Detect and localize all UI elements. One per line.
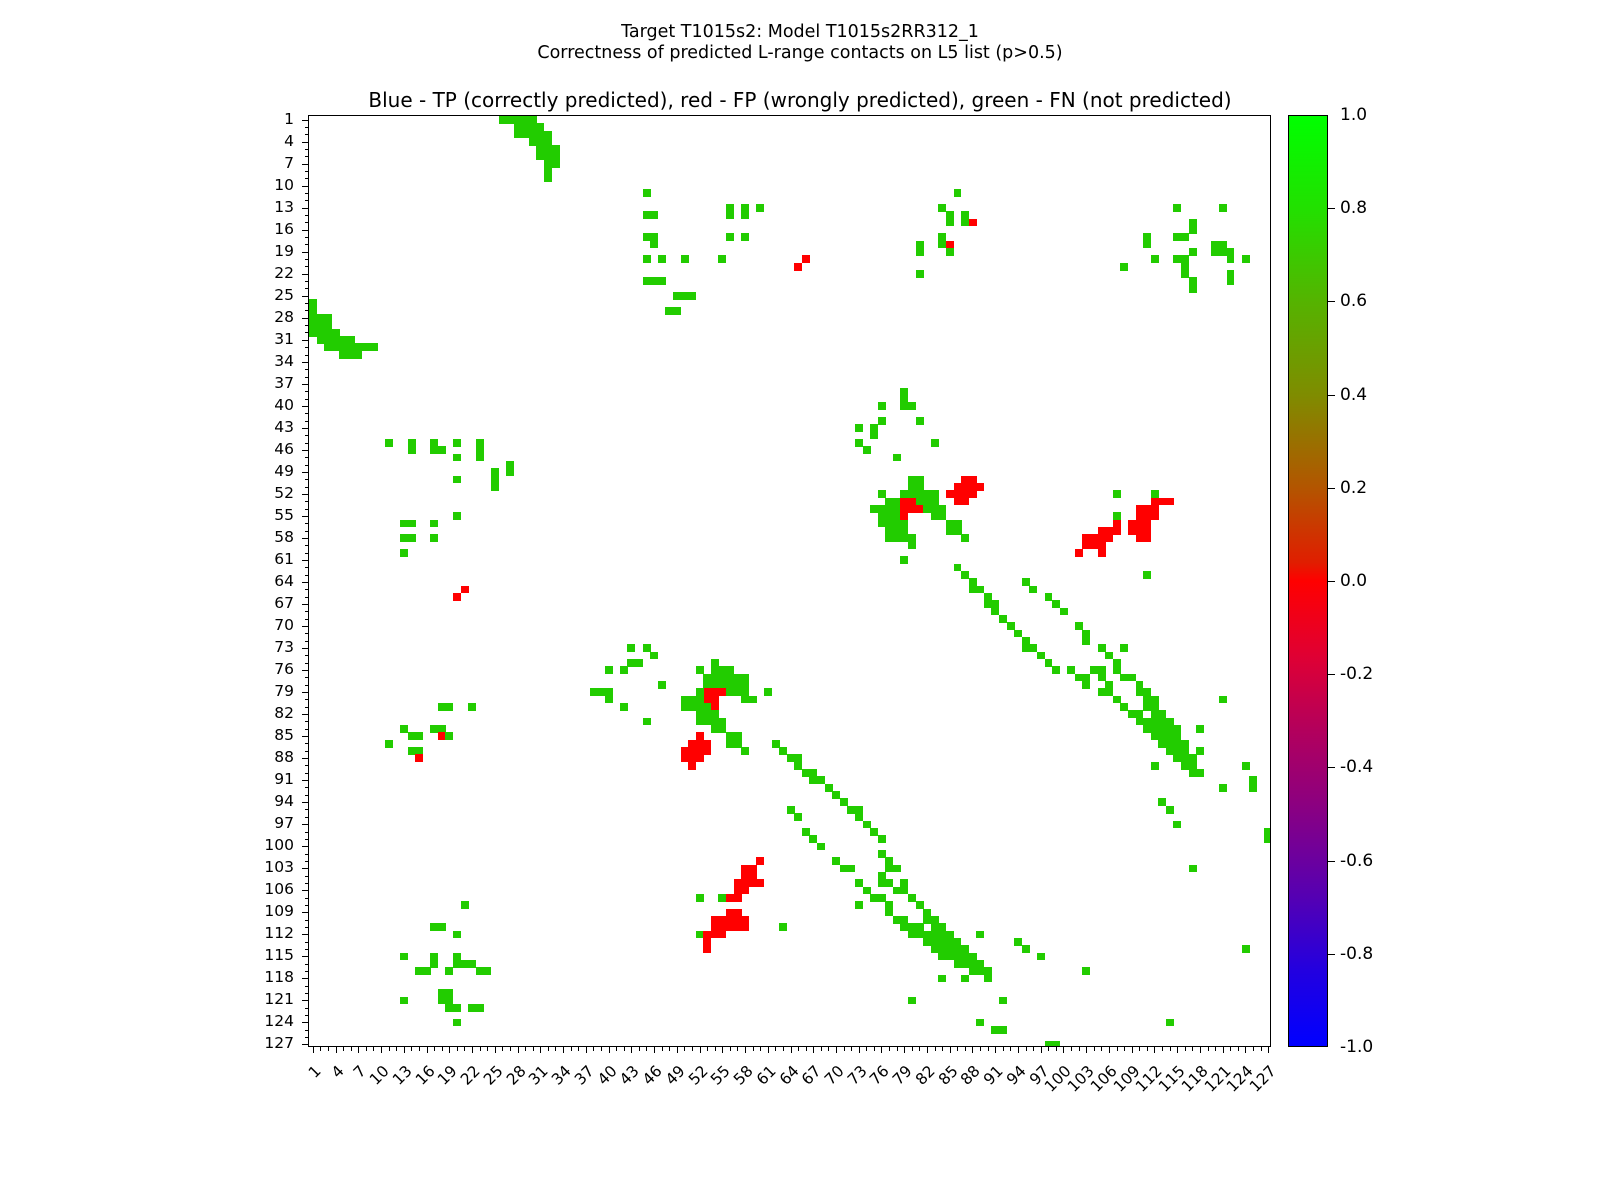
contact-cell xyxy=(1166,806,1174,814)
contact-cell xyxy=(1219,696,1227,704)
x-tick xyxy=(495,1046,496,1053)
y-tick xyxy=(302,582,309,583)
colorbar-tick-label: 0.2 xyxy=(1340,478,1367,498)
y-tick xyxy=(305,391,310,392)
contact-cell xyxy=(855,901,863,909)
contact-cell xyxy=(688,754,696,769)
contact-cell xyxy=(1151,762,1159,770)
x-tick xyxy=(1079,1046,1080,1051)
y-tick-label: 10 xyxy=(274,176,294,194)
y-tick xyxy=(305,751,310,752)
y-tick xyxy=(302,802,309,803)
y-tick xyxy=(305,545,310,546)
y-tick xyxy=(302,648,309,649)
contact-cell xyxy=(476,967,492,975)
contact-cell xyxy=(908,402,916,410)
y-tick xyxy=(305,399,310,400)
contact-cell xyxy=(1173,821,1181,829)
x-tick xyxy=(518,1046,519,1053)
contact-cell xyxy=(430,953,438,961)
x-tick xyxy=(1261,1046,1262,1051)
contact-cell xyxy=(643,277,666,285)
contact-cell xyxy=(1196,769,1204,777)
x-tick xyxy=(737,1046,738,1051)
y-tick xyxy=(305,303,310,304)
x-tick xyxy=(798,1046,799,1051)
y-tick-label: 16 xyxy=(274,220,294,238)
x-tick xyxy=(464,1046,465,1051)
x-tick xyxy=(844,1046,845,1051)
y-tick xyxy=(302,1000,309,1001)
y-tick-label: 76 xyxy=(274,660,294,678)
contact-cell xyxy=(1189,277,1197,292)
contact-cell xyxy=(984,975,992,983)
y-tick-label: 124 xyxy=(264,1012,294,1030)
colorbar-tick-label: 0.4 xyxy=(1340,385,1367,405)
contact-cell xyxy=(499,116,515,124)
contact-cell xyxy=(999,997,1007,1005)
y-tick xyxy=(305,611,310,612)
y-tick-label: 79 xyxy=(274,682,294,700)
colorbar-tick-label: -0.6 xyxy=(1340,851,1373,871)
contact-cell xyxy=(430,534,438,542)
contact-cell xyxy=(726,204,734,219)
y-tick xyxy=(305,832,310,833)
y-tick xyxy=(302,846,309,847)
contact-cell xyxy=(400,953,408,961)
contact-cell xyxy=(1189,865,1197,873)
contact-cell xyxy=(1060,608,1068,616)
y-tick-label: 118 xyxy=(264,968,294,986)
contact-cell xyxy=(453,593,461,601)
contact-cell xyxy=(605,666,613,674)
x-tick xyxy=(677,1046,678,1053)
contact-cell xyxy=(779,923,787,931)
y-tick-label: 121 xyxy=(264,990,294,1008)
x-tick xyxy=(533,1046,534,1051)
x-tick xyxy=(1170,1046,1171,1051)
x-tick xyxy=(1094,1046,1095,1051)
contact-cell xyxy=(976,1019,984,1027)
contact-cell xyxy=(1173,204,1181,212)
contact-cell xyxy=(1098,688,1114,696)
x-tick xyxy=(502,1046,503,1051)
y-tick xyxy=(305,237,310,238)
contact-cell xyxy=(385,439,393,447)
contact-cell xyxy=(931,505,947,520)
y-tick xyxy=(305,487,310,488)
y-tick xyxy=(302,516,309,517)
contact-cell xyxy=(749,696,757,704)
contact-cell xyxy=(900,556,908,564)
contact-cell xyxy=(1264,828,1270,843)
x-tick xyxy=(995,1046,996,1053)
x-tick xyxy=(373,1046,374,1051)
x-tick xyxy=(1109,1046,1110,1053)
x-tick xyxy=(434,1046,435,1051)
y-tick xyxy=(305,743,310,744)
contact-cell xyxy=(400,534,416,542)
y-tick xyxy=(302,978,309,979)
contact-cell xyxy=(1113,659,1121,674)
y-tick xyxy=(305,699,310,700)
y-tick-label: 61 xyxy=(274,550,294,568)
y-tick xyxy=(302,406,309,407)
y-tick xyxy=(302,340,309,341)
y-tick xyxy=(302,692,309,693)
x-tick xyxy=(1033,1046,1034,1051)
x-tick xyxy=(753,1046,754,1051)
x-tick xyxy=(1245,1046,1246,1053)
x-tick xyxy=(912,1046,913,1051)
contact-cell xyxy=(1143,233,1151,248)
x-tick xyxy=(768,1046,769,1053)
y-tick xyxy=(305,787,310,788)
y-tick xyxy=(305,553,310,554)
contact-cell xyxy=(878,417,886,425)
x-tick xyxy=(1223,1046,1224,1053)
x-tick xyxy=(427,1046,428,1053)
contact-cell xyxy=(385,740,393,748)
x-tick xyxy=(578,1046,579,1051)
x-tick xyxy=(1139,1046,1140,1051)
contact-cell xyxy=(1098,527,1114,542)
contact-cell xyxy=(802,255,810,263)
x-tick xyxy=(760,1046,761,1051)
contact-cell xyxy=(681,255,689,263)
contact-cell xyxy=(878,402,886,410)
contact-cell xyxy=(1120,263,1128,271)
y-tick xyxy=(305,465,310,466)
x-tick xyxy=(700,1046,701,1053)
contact-cell xyxy=(734,916,750,931)
x-tick xyxy=(881,1046,882,1053)
y-tick xyxy=(305,178,310,179)
x-tick xyxy=(1200,1046,1201,1053)
contact-cell xyxy=(1211,241,1227,256)
contact-cell xyxy=(741,204,749,219)
y-tick xyxy=(305,171,310,172)
x-tick xyxy=(320,1046,321,1051)
contact-cell xyxy=(1136,527,1152,542)
x-tick xyxy=(1063,1046,1064,1053)
y-tick xyxy=(302,318,309,319)
x-tick xyxy=(1147,1046,1148,1051)
contact-cell xyxy=(809,776,825,784)
contact-cell xyxy=(453,439,461,447)
colorbar-tick xyxy=(1328,674,1335,675)
y-tick-label: 49 xyxy=(274,462,294,480)
contact-cell xyxy=(1022,945,1030,953)
contact-cell xyxy=(1045,1041,1061,1046)
contact-cell xyxy=(931,439,939,447)
y-tick xyxy=(305,920,310,921)
contact-cell xyxy=(893,887,901,895)
contact-cell xyxy=(552,145,560,167)
contact-cell xyxy=(400,997,408,1005)
contact-cell xyxy=(726,732,742,747)
y-tick-label: 19 xyxy=(274,242,294,260)
x-tick xyxy=(972,1046,973,1053)
x-tick xyxy=(548,1046,549,1051)
contact-cell xyxy=(1082,681,1090,689)
x-tick xyxy=(510,1046,511,1051)
x-tick xyxy=(411,1046,412,1051)
contact-cell xyxy=(1120,674,1136,682)
y-tick xyxy=(302,384,309,385)
x-tick xyxy=(404,1046,405,1053)
contact-cell xyxy=(711,931,727,939)
y-tick xyxy=(305,1030,310,1031)
x-tick xyxy=(707,1046,708,1051)
x-tick xyxy=(791,1046,792,1053)
contact-cell xyxy=(453,1019,461,1027)
y-tick xyxy=(302,780,309,781)
x-tick xyxy=(1041,1046,1042,1053)
y-tick xyxy=(305,655,310,656)
y-tick xyxy=(305,619,310,620)
y-tick-label: 55 xyxy=(274,506,294,524)
y-tick xyxy=(305,949,310,950)
colorbar-tick-label: 0.6 xyxy=(1340,291,1367,311)
contact-cell xyxy=(415,754,423,762)
contact-cell xyxy=(726,233,734,241)
contact-cell xyxy=(1082,967,1090,975)
x-tick xyxy=(1003,1046,1004,1051)
contact-cell xyxy=(840,865,856,873)
x-tick xyxy=(646,1046,647,1051)
y-tick-label: 58 xyxy=(274,528,294,546)
chart-title-line1: Target T1015s2: Model T1015s2RR312_1 xyxy=(0,22,1600,42)
contact-cell xyxy=(544,175,552,183)
contact-cell xyxy=(900,879,908,894)
contact-cell xyxy=(908,997,916,1005)
x-tick xyxy=(1230,1046,1231,1051)
y-tick xyxy=(305,421,310,422)
contact-cell xyxy=(1242,255,1250,263)
y-tick xyxy=(302,142,309,143)
y-tick xyxy=(302,560,309,561)
contact-cell xyxy=(415,967,431,975)
contact-cell xyxy=(1181,263,1189,278)
y-tick-label: 73 xyxy=(274,638,294,656)
contact-cell xyxy=(1029,586,1037,594)
colorbar-tick xyxy=(1328,395,1335,396)
x-tick xyxy=(965,1046,966,1051)
x-tick xyxy=(631,1046,632,1053)
contact-cell xyxy=(408,439,416,454)
x-tick xyxy=(1071,1046,1072,1051)
colorbar-tick-label: -0.2 xyxy=(1340,664,1373,684)
x-tick xyxy=(1101,1046,1102,1051)
contact-cell xyxy=(794,813,802,821)
x-tick xyxy=(692,1046,693,1051)
y-tick xyxy=(302,714,309,715)
contact-cell xyxy=(893,454,901,462)
x-tick xyxy=(904,1046,905,1053)
contact-cell xyxy=(370,343,378,351)
x-tick xyxy=(593,1046,594,1051)
contact-cell xyxy=(476,439,484,461)
y-tick xyxy=(302,186,309,187)
contact-cell xyxy=(658,255,666,263)
x-tick xyxy=(1026,1046,1027,1051)
contact-cell xyxy=(1082,630,1090,645)
contact-cell xyxy=(491,468,499,490)
y-tick xyxy=(305,677,310,678)
y-tick xyxy=(305,721,310,722)
y-tick xyxy=(305,443,310,444)
y-tick xyxy=(305,332,310,333)
contact-cell xyxy=(445,1004,461,1012)
y-tick xyxy=(305,149,310,150)
y-tick-label: 40 xyxy=(274,396,294,414)
colorbar-tick xyxy=(1328,581,1335,582)
x-tick xyxy=(1238,1046,1239,1051)
y-tick xyxy=(305,347,310,348)
y-tick xyxy=(305,898,310,899)
y-tick-label: 52 xyxy=(274,484,294,502)
contact-cell xyxy=(681,696,704,711)
y-tick xyxy=(305,905,310,906)
contact-cell xyxy=(1098,549,1106,557)
x-tick xyxy=(775,1046,776,1051)
x-tick xyxy=(988,1046,989,1051)
contact-cell xyxy=(1242,762,1250,770)
contact-cell xyxy=(461,960,477,968)
x-tick xyxy=(540,1046,541,1053)
contact-cell xyxy=(1196,725,1204,733)
x-tick xyxy=(1208,1046,1209,1051)
y-tick xyxy=(305,964,310,965)
contact-cell xyxy=(756,204,764,212)
y-tick xyxy=(302,604,309,605)
x-tick xyxy=(866,1046,867,1051)
y-tick xyxy=(305,633,310,634)
colorbar-tick xyxy=(1328,767,1335,768)
y-tick xyxy=(302,956,309,957)
y-tick-label: 115 xyxy=(264,946,294,964)
contact-cell xyxy=(954,189,962,197)
y-tick-label: 22 xyxy=(274,264,294,282)
contact-cell xyxy=(1219,204,1227,212)
y-tick xyxy=(305,809,310,810)
x-tick xyxy=(487,1046,488,1051)
contact-cell xyxy=(453,931,461,939)
contact-cell xyxy=(1120,644,1128,652)
y-tick-label: 37 xyxy=(274,374,294,392)
x-tick xyxy=(715,1046,716,1051)
contact-cell xyxy=(430,923,446,931)
y-tick xyxy=(305,457,310,458)
contact-cell xyxy=(946,211,954,226)
x-tick xyxy=(472,1046,473,1053)
contact-cell xyxy=(445,967,453,975)
y-tick-label: 31 xyxy=(274,330,294,348)
contact-cell xyxy=(468,1004,484,1012)
x-tick xyxy=(783,1046,784,1051)
x-tick xyxy=(358,1046,359,1053)
contact-cell xyxy=(1098,666,1106,681)
contact-cell xyxy=(1166,1019,1174,1027)
contact-cell xyxy=(696,894,704,902)
colorbar-tick-label: 0.8 xyxy=(1340,198,1367,218)
contact-cell xyxy=(1075,549,1083,557)
contact-cell xyxy=(650,241,658,249)
y-tick xyxy=(302,868,309,869)
y-tick xyxy=(305,986,310,987)
y-tick xyxy=(305,839,310,840)
contact-cell xyxy=(1189,248,1197,256)
y-tick xyxy=(305,325,310,326)
contact-cell xyxy=(627,659,643,667)
contact-cell xyxy=(445,732,453,740)
contact-cell xyxy=(468,703,476,711)
y-tick-label: 85 xyxy=(274,726,294,744)
contact-cell xyxy=(1219,784,1227,792)
y-tick-label: 106 xyxy=(264,880,294,898)
contact-cell xyxy=(408,732,424,740)
contact-cell xyxy=(643,211,659,219)
contact-cell xyxy=(1113,490,1121,498)
contact-cell xyxy=(916,417,924,425)
y-tick xyxy=(305,575,310,576)
y-tick-label: 91 xyxy=(274,770,294,788)
contact-cell xyxy=(741,233,749,241)
contact-cell xyxy=(1143,571,1151,579)
y-tick-label: 100 xyxy=(264,836,294,854)
y-tick xyxy=(305,509,310,510)
contact-cell xyxy=(741,747,749,755)
x-tick xyxy=(1056,1046,1057,1051)
y-tick-label: 28 xyxy=(274,308,294,326)
contact-cell xyxy=(438,446,446,454)
contact-cell xyxy=(916,241,924,256)
y-tick xyxy=(305,435,310,436)
contact-cell xyxy=(430,520,438,528)
y-tick xyxy=(302,252,309,253)
contact-cell xyxy=(946,520,962,535)
y-tick-label: 112 xyxy=(264,924,294,942)
contact-cell xyxy=(908,542,916,550)
x-axis-tick-labels: 1471013161922252831343740434649525558616… xyxy=(308,1056,1271,1136)
contact-map-cells xyxy=(309,116,1270,1046)
y-tick xyxy=(302,274,309,275)
y-tick xyxy=(305,531,310,532)
contact-cell xyxy=(908,505,924,513)
contact-cell xyxy=(673,292,696,300)
y-tick xyxy=(305,567,310,568)
y-tick xyxy=(305,479,310,480)
x-tick xyxy=(919,1046,920,1051)
y-tick xyxy=(305,259,310,260)
y-tick xyxy=(305,369,310,370)
contact-cell xyxy=(863,446,871,454)
y-tick xyxy=(305,861,310,862)
contact-cell xyxy=(885,901,893,916)
contact-cell xyxy=(620,703,628,711)
y-tick xyxy=(302,208,309,209)
x-tick xyxy=(828,1046,829,1051)
colorbar-tick-label: -1.0 xyxy=(1340,1037,1373,1057)
contact-cell xyxy=(1189,219,1197,234)
y-tick xyxy=(302,538,309,539)
contact-cell xyxy=(1151,505,1159,520)
contact-cell xyxy=(718,255,726,263)
x-tick xyxy=(1018,1046,1019,1053)
x-tick xyxy=(1162,1046,1163,1051)
contact-cell xyxy=(878,512,894,527)
